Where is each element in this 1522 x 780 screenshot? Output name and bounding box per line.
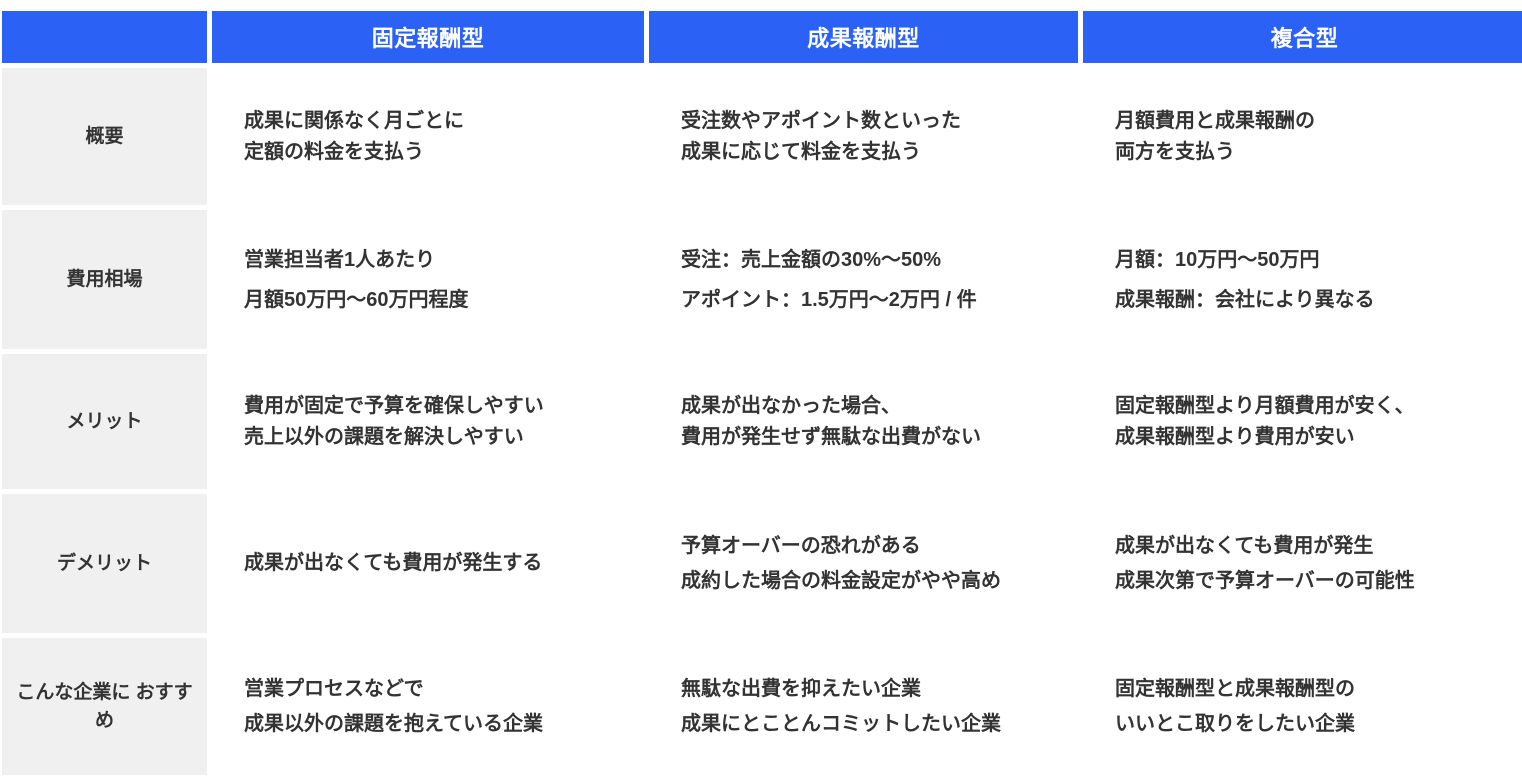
- column-header-fixed-fee: 固定報酬型: [212, 11, 644, 63]
- cell-demerit-hybrid: 成果が出なくても費用が発生 成果次第で予算オーバーの可能性: [1083, 494, 1522, 633]
- cell-overview-hybrid: 月額費用と成果報酬の 両方を支払う: [1083, 68, 1522, 205]
- cell-merit-fixed-fee: 費用が固定で予算を確保しやすい 売上以外の課題を解決しやすい: [212, 354, 644, 489]
- table-row-recommended-for: こんな企業に おすすめ 営業プロセスなどで 成果以外の課題を抱えている企業 無駄…: [2, 638, 1522, 775]
- cell-cost-fixed-fee: 営業担当者1人あたり 月額50万円〜60万円程度: [212, 210, 644, 349]
- table-body: 概要 成果に関係なく月ごとに 定額の料金を支払う 受注数やアポイント数といった …: [2, 68, 1522, 775]
- pricing-model-comparison-table: 固定報酬型 成果報酬型 複合型 概要 成果に関係なく月ごとに 定額の料金を支払う…: [0, 6, 1522, 780]
- cell-recommended-fixed-fee: 営業プロセスなどで 成果以外の課題を抱えている企業: [212, 638, 644, 775]
- table-row-merit: メリット 費用が固定で予算を確保しやすい 売上以外の課題を解決しやすい 成果が出…: [2, 354, 1522, 489]
- cell-demerit-fixed-fee: 成果が出なくても費用が発生する: [212, 494, 644, 633]
- cell-demerit-performance-fee: 予算オーバーの恐れがある 成約した場合の料金設定がやや高め: [649, 494, 1078, 633]
- row-label-merit: メリット: [2, 354, 207, 489]
- row-label-overview: 概要: [2, 68, 207, 205]
- table-row-cost: 費用相場 営業担当者1人あたり 月額50万円〜60万円程度 受注：売上金額の30…: [2, 210, 1522, 349]
- row-label-demerit: デメリット: [2, 494, 207, 633]
- header-corner-cell: [2, 11, 207, 63]
- cell-cost-hybrid: 月額：10万円〜50万円 成果報酬：会社により異なる: [1083, 210, 1522, 349]
- cell-overview-performance-fee: 受注数やアポイント数といった 成果に応じて料金を支払う: [649, 68, 1078, 205]
- cell-recommended-hybrid: 固定報酬型と成果報酬型の いいとこ取りをしたい企業: [1083, 638, 1522, 775]
- table-row-overview: 概要 成果に関係なく月ごとに 定額の料金を支払う 受注数やアポイント数といった …: [2, 68, 1522, 205]
- table-row-demerit: デメリット 成果が出なくても費用が発生する 予算オーバーの恐れがある 成約した場…: [2, 494, 1522, 633]
- column-header-performance-fee: 成果報酬型: [649, 11, 1078, 63]
- cell-merit-hybrid: 固定報酬型より月額費用が安く、 成果報酬型より費用が安い: [1083, 354, 1522, 489]
- row-label-recommended-for: こんな企業に おすすめ: [2, 638, 207, 775]
- cell-merit-performance-fee: 成果が出なかった場合、 費用が発生せず無駄な出費がない: [649, 354, 1078, 489]
- cell-recommended-performance-fee: 無駄な出費を抑えたい企業 成果にとことんコミットしたい企業: [649, 638, 1078, 775]
- cell-cost-performance-fee: 受注：売上金額の30%〜50% アポイント：1.5万円〜2万円 / 件: [649, 210, 1078, 349]
- row-label-cost: 費用相場: [2, 210, 207, 349]
- table-header: 固定報酬型 成果報酬型 複合型: [2, 11, 1522, 63]
- cell-overview-fixed-fee: 成果に関係なく月ごとに 定額の料金を支払う: [212, 68, 644, 205]
- comparison-table-container: 固定報酬型 成果報酬型 複合型 概要 成果に関係なく月ごとに 定額の料金を支払う…: [0, 0, 1522, 774]
- column-header-hybrid: 複合型: [1083, 11, 1522, 63]
- header-row: 固定報酬型 成果報酬型 複合型: [2, 11, 1522, 63]
